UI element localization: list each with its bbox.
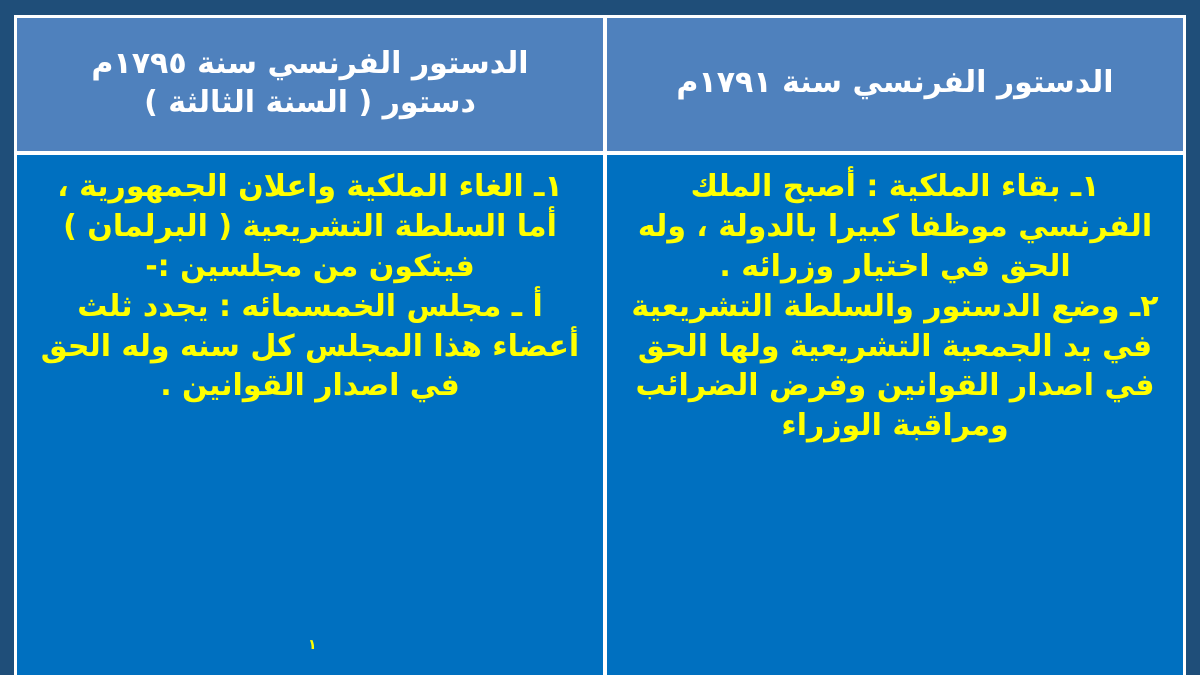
table-header-row-group: الدستور الفرنسي سنة ١٧٩١م الدستور الفرنس…: [14, 15, 1186, 155]
page-marker: ١: [308, 638, 317, 652]
body-cell-constitution-1795: ١ـ الغاء الملكية واعلان الجمهورية ، أما …: [14, 155, 603, 675]
table-row: ١ـ بقاء الملكية : أصبح الملك الفرنسي موظ…: [14, 155, 1186, 675]
body-cell-constitution-1791: ١ـ بقاء الملكية : أصبح الملك الفرنسي موظ…: [603, 155, 1186, 675]
header-cell-constitution-1795: الدستور الفرنسي سنة ١٧٩٥م دستور ( السنة …: [14, 15, 603, 155]
header-cell-constitution-1791: الدستور الفرنسي سنة ١٧٩١م: [603, 15, 1186, 155]
table-body-row-group: ١ـ بقاء الملكية : أصبح الملك الفرنسي موظ…: [14, 155, 1186, 675]
constitution-comparison-table: الدستور الفرنسي سنة ١٧٩١م الدستور الفرنس…: [14, 15, 1186, 675]
slide-canvas: الدستور الفرنسي سنة ١٧٩١م الدستور الفرنس…: [0, 0, 1200, 675]
table-header-row: الدستور الفرنسي سنة ١٧٩١م الدستور الفرنس…: [14, 15, 1186, 155]
